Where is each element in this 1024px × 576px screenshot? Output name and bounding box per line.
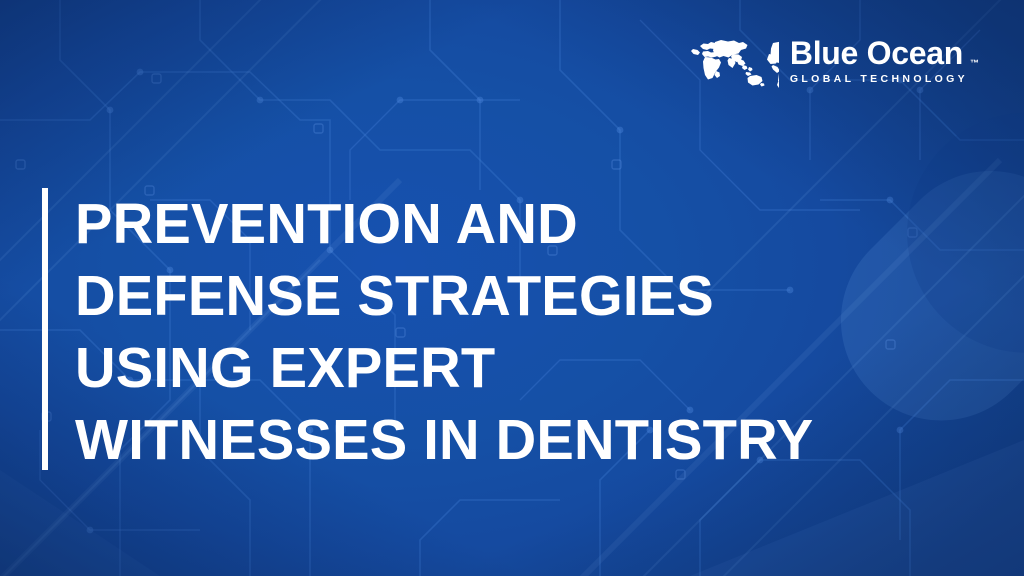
title-line-1: PREVENTION AND [75, 188, 813, 260]
logo-wordmark: Blue Ocean ™ GLOBAL TECHNOLOGY [790, 37, 968, 85]
logo-brand-text: Blue Ocean [790, 35, 963, 71]
trademark-icon: ™ [970, 59, 979, 68]
brand-logo[interactable]: Blue Ocean ™ GLOBAL TECHNOLOGY [683, 34, 968, 88]
title-lines: PREVENTION AND DEFENSE STRATEGIES USING … [48, 188, 825, 476]
world-map-icon [683, 34, 779, 88]
logo-brand-name: Blue Ocean ™ [790, 37, 968, 69]
title-line-2: DEFENSE STRATEGIES [75, 260, 813, 332]
title-slide: Blue Ocean ™ GLOBAL TECHNOLOGY PREVENTIO… [0, 0, 1024, 576]
title-line-3: USING EXPERT [75, 332, 813, 404]
page-title: PREVENTION AND DEFENSE STRATEGIES USING … [42, 188, 825, 476]
title-line-4: WITNESSES IN DENTISTRY [75, 404, 813, 476]
logo-tagline: GLOBAL TECHNOLOGY [790, 74, 968, 85]
